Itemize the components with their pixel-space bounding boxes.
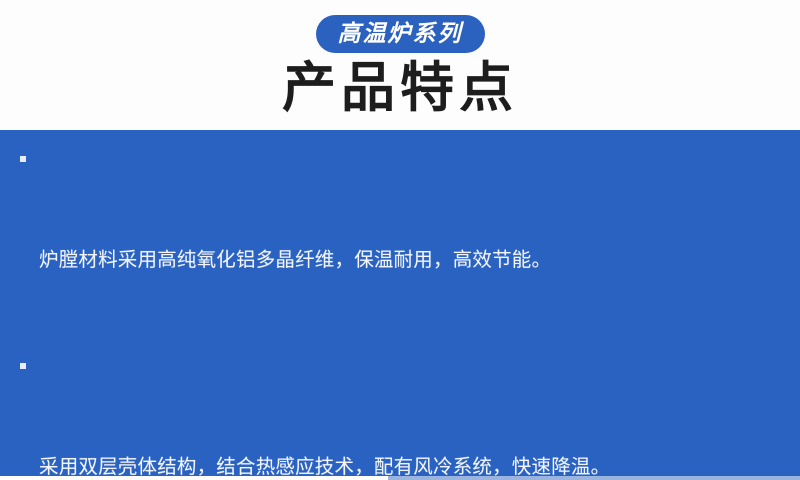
list-item: 采用双层壳体结构，结合热感应技术，配有风冷系统，快速降温。 — [16, 350, 784, 476]
feature-panel: 炉膛材料采用高纯氧化铝多晶纤维，保温耐用，高效节能。 采用双层壳体结构，结合热感… — [0, 130, 800, 476]
feature-text: 采用双层壳体结构，结合热感应技术，配有风冷系统，快速降温。 — [39, 451, 784, 476]
list-item: 炉膛材料采用高纯氧化铝多晶纤维，保温耐用，高效节能。 — [16, 143, 784, 344]
square-bullet-icon — [20, 156, 26, 162]
square-bullet-icon — [20, 363, 26, 369]
feature-text: 炉膛材料采用高纯氧化铝多晶纤维，保温耐用，高效节能。 — [39, 244, 784, 278]
feature-list: 炉膛材料采用高纯氧化铝多晶纤维，保温耐用，高效节能。 采用双层壳体结构，结合热感… — [16, 143, 784, 476]
bottom-strip-accent — [388, 476, 800, 480]
banner-header: 高温炉系列 产品特点 — [0, 0, 800, 130]
series-badge: 高温炉系列 — [316, 15, 485, 53]
page-title: 产品特点 — [282, 59, 518, 117]
product-features-banner: 高温炉系列 产品特点 炉膛材料采用高纯氧化铝多晶纤维，保温耐用，高效节能。 采用… — [0, 0, 800, 480]
